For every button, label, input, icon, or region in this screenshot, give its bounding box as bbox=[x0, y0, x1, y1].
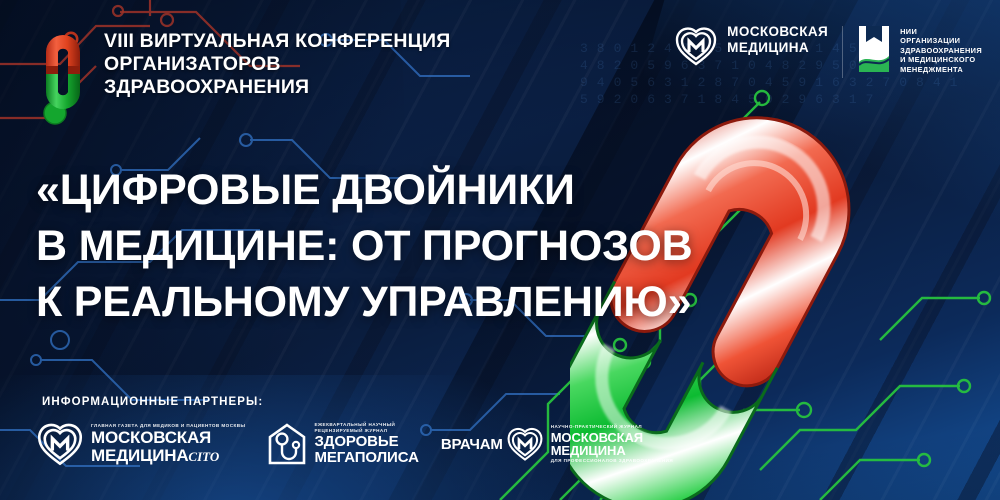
header-title: VIII ВИРТУАЛЬНАЯ КОНФЕРЕНЦИЯ ОРГАНИЗАТОР… bbox=[104, 30, 451, 99]
partner-vracham-moscow-medicine[interactable]: ВРАЧАМ НАУЧНО-ПРАКТИЧЕСКИЙ ЖУРНАЛ МОСКОВ… bbox=[441, 424, 673, 463]
house-stethoscope-icon bbox=[267, 422, 307, 466]
partner-2-name-line-2: МЕГАПОЛИСА bbox=[314, 450, 418, 466]
organizer-divider bbox=[842, 26, 843, 78]
nii-line-5: МЕНЕДЖМЕНТА bbox=[900, 65, 982, 74]
partner-1-name-main: МЕДИЦИНА bbox=[91, 446, 188, 465]
main-title-line-3: К РЕАЛЬНОМУ УПРАВЛЕНИЮ» bbox=[36, 274, 692, 330]
partner-1-tagline: ГЛАВНАЯ ГАЗЕТА ДЛЯ МЕДИКОВ И ПАЦИЕНТОВ М… bbox=[91, 423, 245, 429]
nii-line-4: И МЕДИЦИНСКОГО bbox=[900, 55, 982, 64]
header: VIII ВИРТУАЛЬНАЯ КОНФЕРЕНЦИЯ ОРГАНИЗАТОР… bbox=[38, 22, 451, 116]
heart-m-icon bbox=[36, 420, 84, 468]
conference-banner: 3801247956302814590736148205963710482950… bbox=[0, 0, 1000, 500]
partner-3-tagline-top: НАУЧНО-ПРАКТИЧЕСКИЙ ЖУРНАЛ bbox=[551, 424, 673, 430]
partner-2-tagline-line-2: РЕЦЕНЗИРУЕМЫЙ ЖУРНАЛ bbox=[314, 428, 418, 434]
organizer-nii[interactable]: НИИ ОРГАНИЗАЦИИ ЗДРАВООХРАНЕНИЯ И МЕДИЦИ… bbox=[857, 24, 982, 74]
partner-1-suffix: cito bbox=[188, 449, 219, 464]
mm-line-1: МОСКОВСКАЯ bbox=[727, 24, 828, 40]
partner-3-tagline-bottom: ДЛЯ ПРОФЕССИОНАЛОВ ЗДРАВООХРАНЕНИЯ bbox=[551, 458, 673, 464]
heart-m-icon bbox=[674, 24, 718, 68]
partner-moscow-medicine-cito[interactable]: ГЛАВНАЯ ГАЗЕТА ДЛЯ МЕДИКОВ И ПАЦИЕНТОВ М… bbox=[36, 420, 245, 468]
header-title-line-3: ЗДРАВООХРАНЕНИЯ bbox=[104, 76, 451, 99]
partner-1-name-line-1: МОСКОВСКАЯ bbox=[91, 429, 245, 447]
heart-m-icon bbox=[506, 425, 544, 463]
header-title-line-1: VIII ВИРТУАЛЬНАЯ КОНФЕРЕНЦИЯ bbox=[104, 30, 451, 53]
partner-health-megapolis[interactable]: ЕЖЕКВАРТАЛЬНЫЙ НАУЧНЫЙ РЕЦЕНЗИРУЕМЫЙ ЖУР… bbox=[267, 422, 418, 466]
partner-1-name-line-2: МЕДИЦИНАcito bbox=[91, 447, 245, 466]
partner-2-text: ЕЖЕКВАРТАЛЬНЫЙ НАУЧНЫЙ РЕЦЕНЗИРУЕМЫЙ ЖУР… bbox=[314, 422, 418, 466]
nii-line-1: НИИ bbox=[900, 27, 982, 36]
partner-3-text: НАУЧНО-ПРАКТИЧЕСКИЙ ЖУРНАЛ МОСКОВСКАЯ МЕ… bbox=[551, 424, 673, 463]
chain-link-logo-icon bbox=[38, 28, 90, 116]
header-title-line-2: ОРГАНИЗАТОРОВ bbox=[104, 53, 451, 76]
organizer-nii-label: НИИ ОРГАНИЗАЦИИ ЗДРАВООХРАНЕНИЯ И МЕДИЦИ… bbox=[900, 24, 982, 74]
partner-3-prefix: ВРАЧАМ bbox=[441, 436, 503, 453]
main-title-line-1: «ЦИФРОВЫЕ ДВОЙНИКИ bbox=[36, 162, 692, 218]
main-title: «ЦИФРОВЫЕ ДВОЙНИКИ В МЕДИЦИНЕ: ОТ ПРОГНО… bbox=[36, 162, 692, 330]
mm-line-2: МЕДИЦИНА bbox=[727, 40, 828, 56]
organizer-moscow-medicine-label: МОСКОВСКАЯ МЕДИЦИНА bbox=[727, 24, 828, 55]
organizer-logos: МОСКОВСКАЯ МЕДИЦИНА НИИ ОРГАНИЗАЦИИ ЗДРА… bbox=[674, 24, 982, 78]
partner-2-name-line-1: ЗДОРОВЬЕ bbox=[314, 434, 418, 450]
partners-list: ГЛАВНАЯ ГАЗЕТА ДЛЯ МЕДИКОВ И ПАЦИЕНТОВ М… bbox=[36, 420, 673, 468]
main-title-line-2: В МЕДИЦИНЕ: ОТ ПРОГНОЗОВ bbox=[36, 218, 692, 274]
nii-line-2: ОРГАНИЗАЦИИ bbox=[900, 36, 982, 45]
organizer-moscow-medicine[interactable]: МОСКОВСКАЯ МЕДИЦИНА bbox=[674, 24, 828, 68]
book-shield-icon bbox=[857, 24, 891, 74]
partners-label: ИНФОРМАЦИОННЫЕ ПАРТНЕРЫ: bbox=[42, 396, 263, 408]
partner-3-name-line-2: МЕДИЦИНА bbox=[551, 444, 673, 458]
partner-3-name-line-1: МОСКОВСКАЯ bbox=[551, 431, 673, 445]
nii-line-3: ЗДРАВООХРАНЕНИЯ bbox=[900, 46, 982, 55]
partner-1-text: ГЛАВНАЯ ГАЗЕТА ДЛЯ МЕДИКОВ И ПАЦИЕНТОВ М… bbox=[91, 423, 245, 465]
